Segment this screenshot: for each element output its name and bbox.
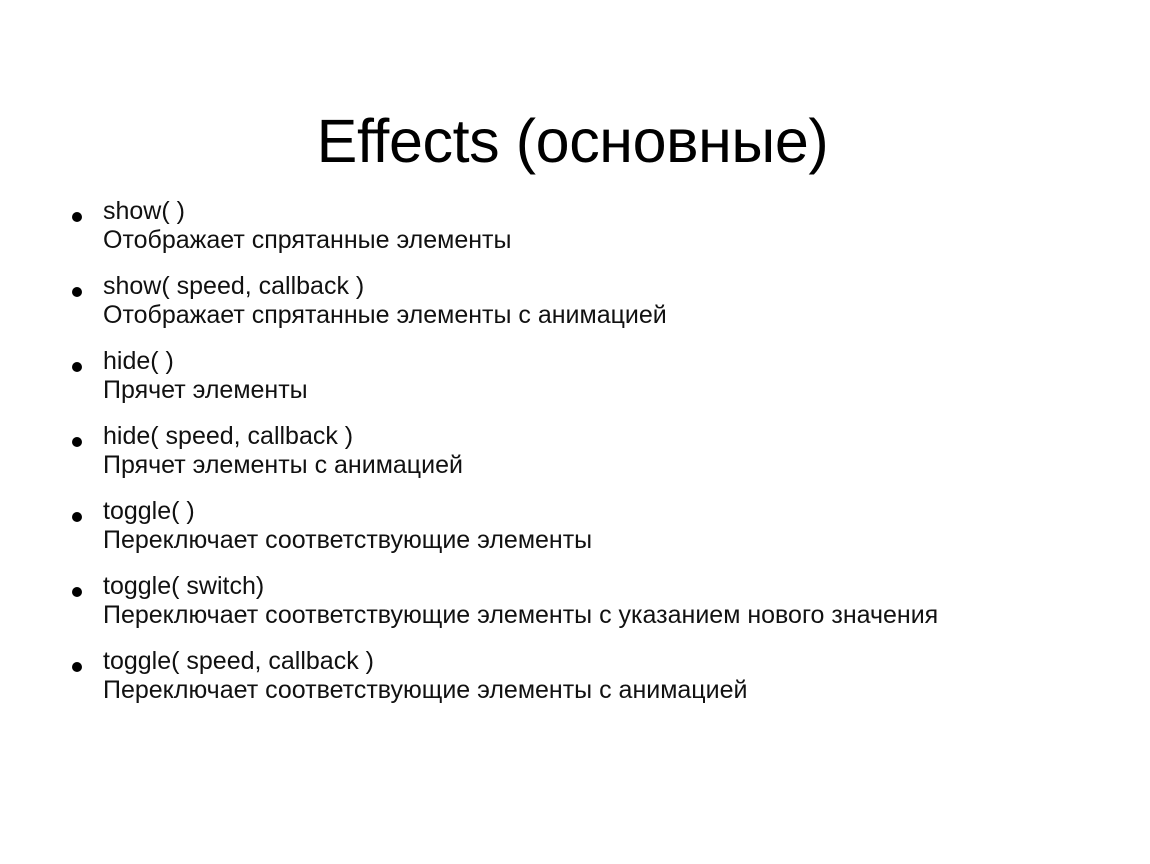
- method-description: Переключает соответствующие элементы с а…: [103, 675, 1122, 705]
- bullet-icon: [72, 287, 82, 297]
- bullet-icon: [72, 437, 82, 447]
- list-item: hide( speed, callback ) Прячет элементы …: [62, 422, 1122, 480]
- list-item: toggle( speed, callback ) Переключает со…: [62, 647, 1122, 705]
- effects-bullet-list: show( ) Отображает спрятанные элементы s…: [62, 197, 1122, 705]
- bullet-icon: [72, 512, 82, 522]
- slide-canvas: Effects (основные) show( ) Отображает сп…: [0, 0, 1150, 864]
- method-description: Переключает соответствующие элементы: [103, 525, 1122, 555]
- list-item: hide( ) Прячет элементы: [62, 347, 1122, 405]
- list-item: show( speed, callback ) Отображает спрят…: [62, 272, 1122, 330]
- method-signature: toggle( switch): [103, 572, 1122, 600]
- method-signature: hide( speed, callback ): [103, 422, 1122, 450]
- method-description: Отображает спрятанные элементы: [103, 225, 1122, 255]
- method-description: Отображает спрятанные элементы с анимаци…: [103, 300, 1122, 330]
- method-signature: show( ): [103, 197, 1122, 225]
- bullet-icon: [72, 662, 82, 672]
- method-signature: toggle( speed, callback ): [103, 647, 1122, 675]
- bullet-icon: [72, 362, 82, 372]
- method-description: Переключает соответствующие элементы с у…: [103, 600, 1122, 630]
- bullet-icon: [72, 212, 82, 222]
- method-description: Прячет элементы: [103, 375, 1122, 405]
- bullet-icon: [72, 587, 82, 597]
- page-title: Effects (основные): [0, 107, 1145, 175]
- method-description: Прячет элементы с анимацией: [103, 450, 1122, 480]
- list-item: toggle( switch) Переключает соответствую…: [62, 572, 1122, 630]
- method-signature: toggle( ): [103, 497, 1122, 525]
- list-item: show( ) Отображает спрятанные элементы: [62, 197, 1122, 255]
- method-signature: show( speed, callback ): [103, 272, 1122, 300]
- method-signature: hide( ): [103, 347, 1122, 375]
- list-item: toggle( ) Переключает соответствующие эл…: [62, 497, 1122, 555]
